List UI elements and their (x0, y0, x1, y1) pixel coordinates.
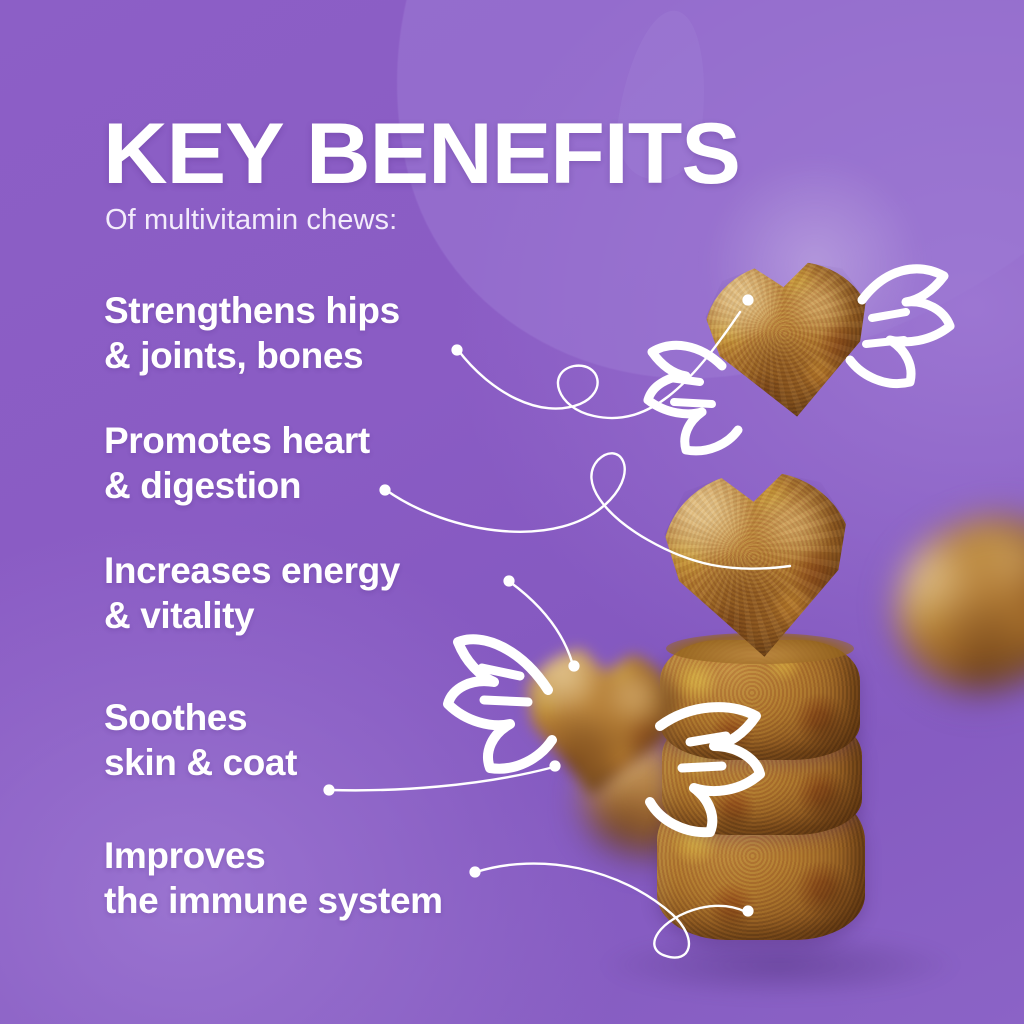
connector-line-4 (330, 768, 550, 790)
benefit-item-energy-vitality: Increases energy & vitality (104, 548, 400, 638)
connector-endpoint-4 (549, 760, 560, 771)
angel-wing-icon-middle-left (448, 639, 552, 768)
benefits-infographic: KEY BENEFITS Of multivitamin chews: Stre… (0, 0, 1024, 1024)
connector-dot-1 (451, 344, 462, 355)
connector-line-3 (510, 582, 572, 662)
connector-dot-3 (503, 575, 514, 586)
connector-line-5 (476, 864, 746, 958)
benefit-item-heart-digestion: Promotes heart & digestion (104, 418, 370, 508)
benefit-item-skin-coat: Soothes skin & coat (104, 695, 297, 785)
page-subtitle: Of multivitamin chews: (105, 203, 397, 237)
connector-endpoint-3 (568, 660, 579, 671)
page-title: KEY BENEFITS (103, 112, 740, 196)
connector-endpoint-1 (742, 294, 753, 305)
connector-endpoint-5 (742, 905, 753, 916)
benefit-item-immune-system: Improves the immune system (104, 833, 443, 923)
connector-dot-2 (379, 484, 390, 495)
angel-wing-icon-top-right (850, 269, 950, 384)
connector-dot-5 (469, 866, 480, 877)
connector-line-2 (386, 453, 790, 568)
connector-dot-4 (323, 784, 334, 795)
angel-wing-icon-middle-right (650, 707, 760, 832)
angel-wing-icon-top-left (648, 345, 738, 451)
benefit-item-hips-joints-bones: Strengthens hips & joints, bones (104, 288, 400, 378)
